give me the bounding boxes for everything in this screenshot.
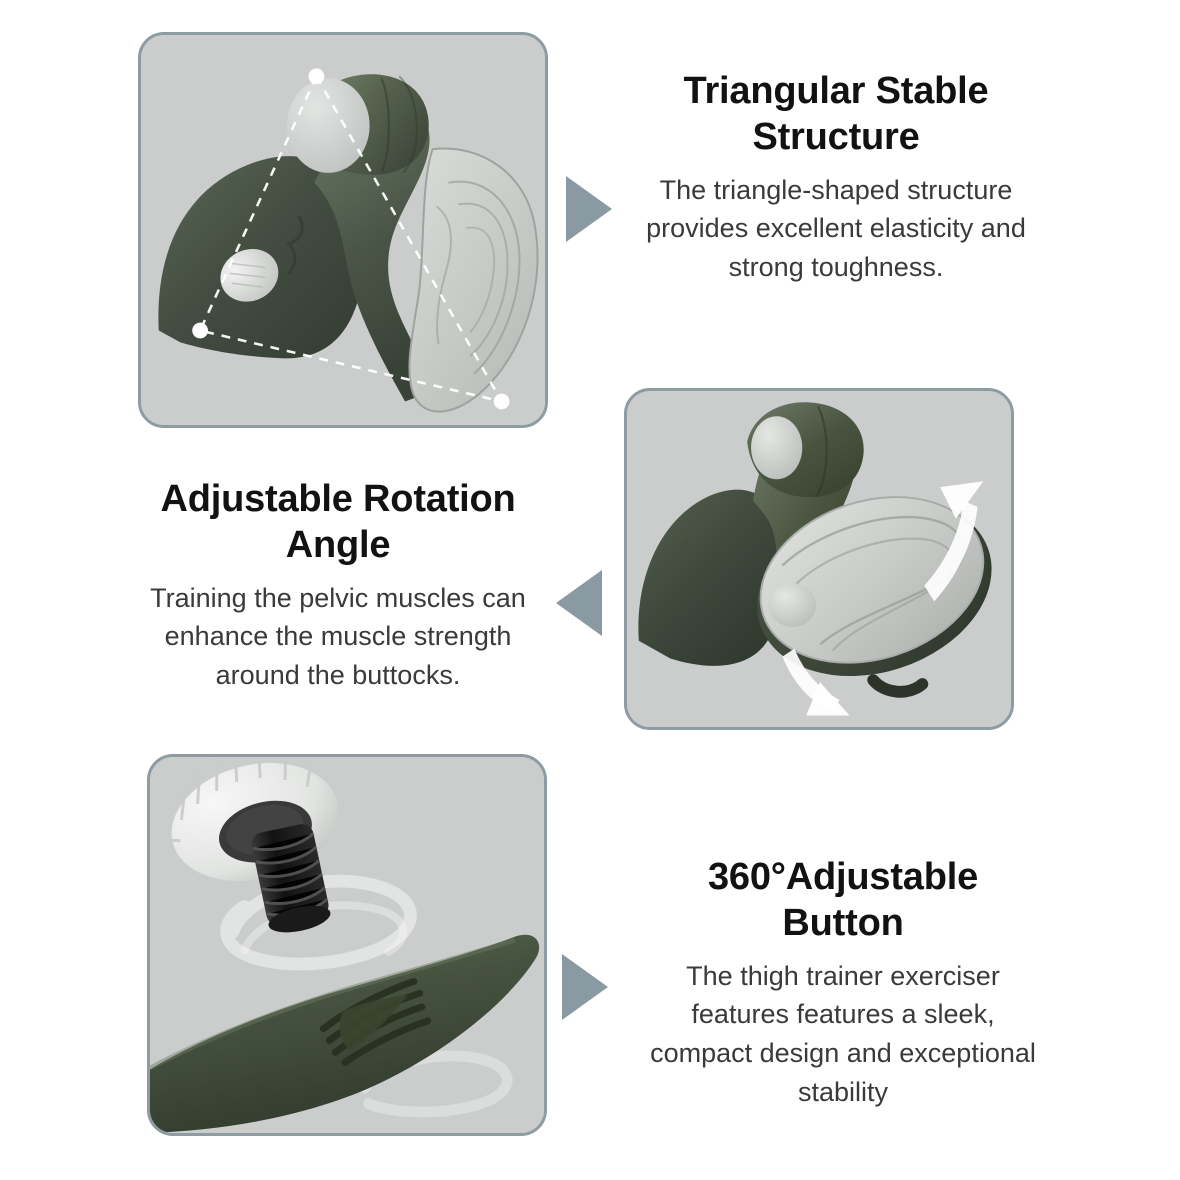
feature-title: Adjustable Rotation Angle (132, 476, 544, 569)
triangle-vertex-left (192, 323, 208, 339)
feature-description: The thigh trainer exerciser features fea… (648, 957, 1038, 1111)
feature-description: Training the pelvic muscles can enhance … (132, 579, 544, 695)
product-illustration-rotation (627, 391, 1011, 727)
connector-arrow-feature-3 (562, 954, 608, 1020)
connector-arrow-feature-2 (556, 570, 602, 636)
feature-text-360-adjustable-button: 360°Adjustable Button The thigh trainer … (648, 854, 1038, 1111)
product-illustration-triangle (141, 35, 545, 425)
feature-text-triangular-stable-structure: Triangular Stable Structure The triangle… (630, 68, 1042, 287)
triangle-vertex-top (309, 68, 325, 84)
feature-title: Triangular Stable Structure (630, 68, 1042, 161)
product-illustration-button (150, 757, 544, 1133)
infographic-canvas: Triangular Stable Structure The triangle… (0, 0, 1180, 1180)
triangle-vertex-right (494, 394, 510, 410)
feature-image-360-adjustable-button (147, 754, 547, 1136)
feature-image-triangular-stable-structure (138, 32, 548, 428)
feature-text-adjustable-rotation-angle: Adjustable Rotation Angle Training the p… (132, 476, 544, 695)
hinge-end-cap (751, 416, 802, 479)
feature-image-adjustable-rotation-angle (624, 388, 1014, 730)
feature-title: 360°Adjustable Button (648, 854, 1038, 947)
feature-description: The triangle-shaped structure provides e… (630, 171, 1042, 287)
connector-arrow-feature-1 (566, 176, 612, 242)
adjustment-knob (769, 584, 816, 627)
hinge-end-cap (287, 78, 370, 173)
